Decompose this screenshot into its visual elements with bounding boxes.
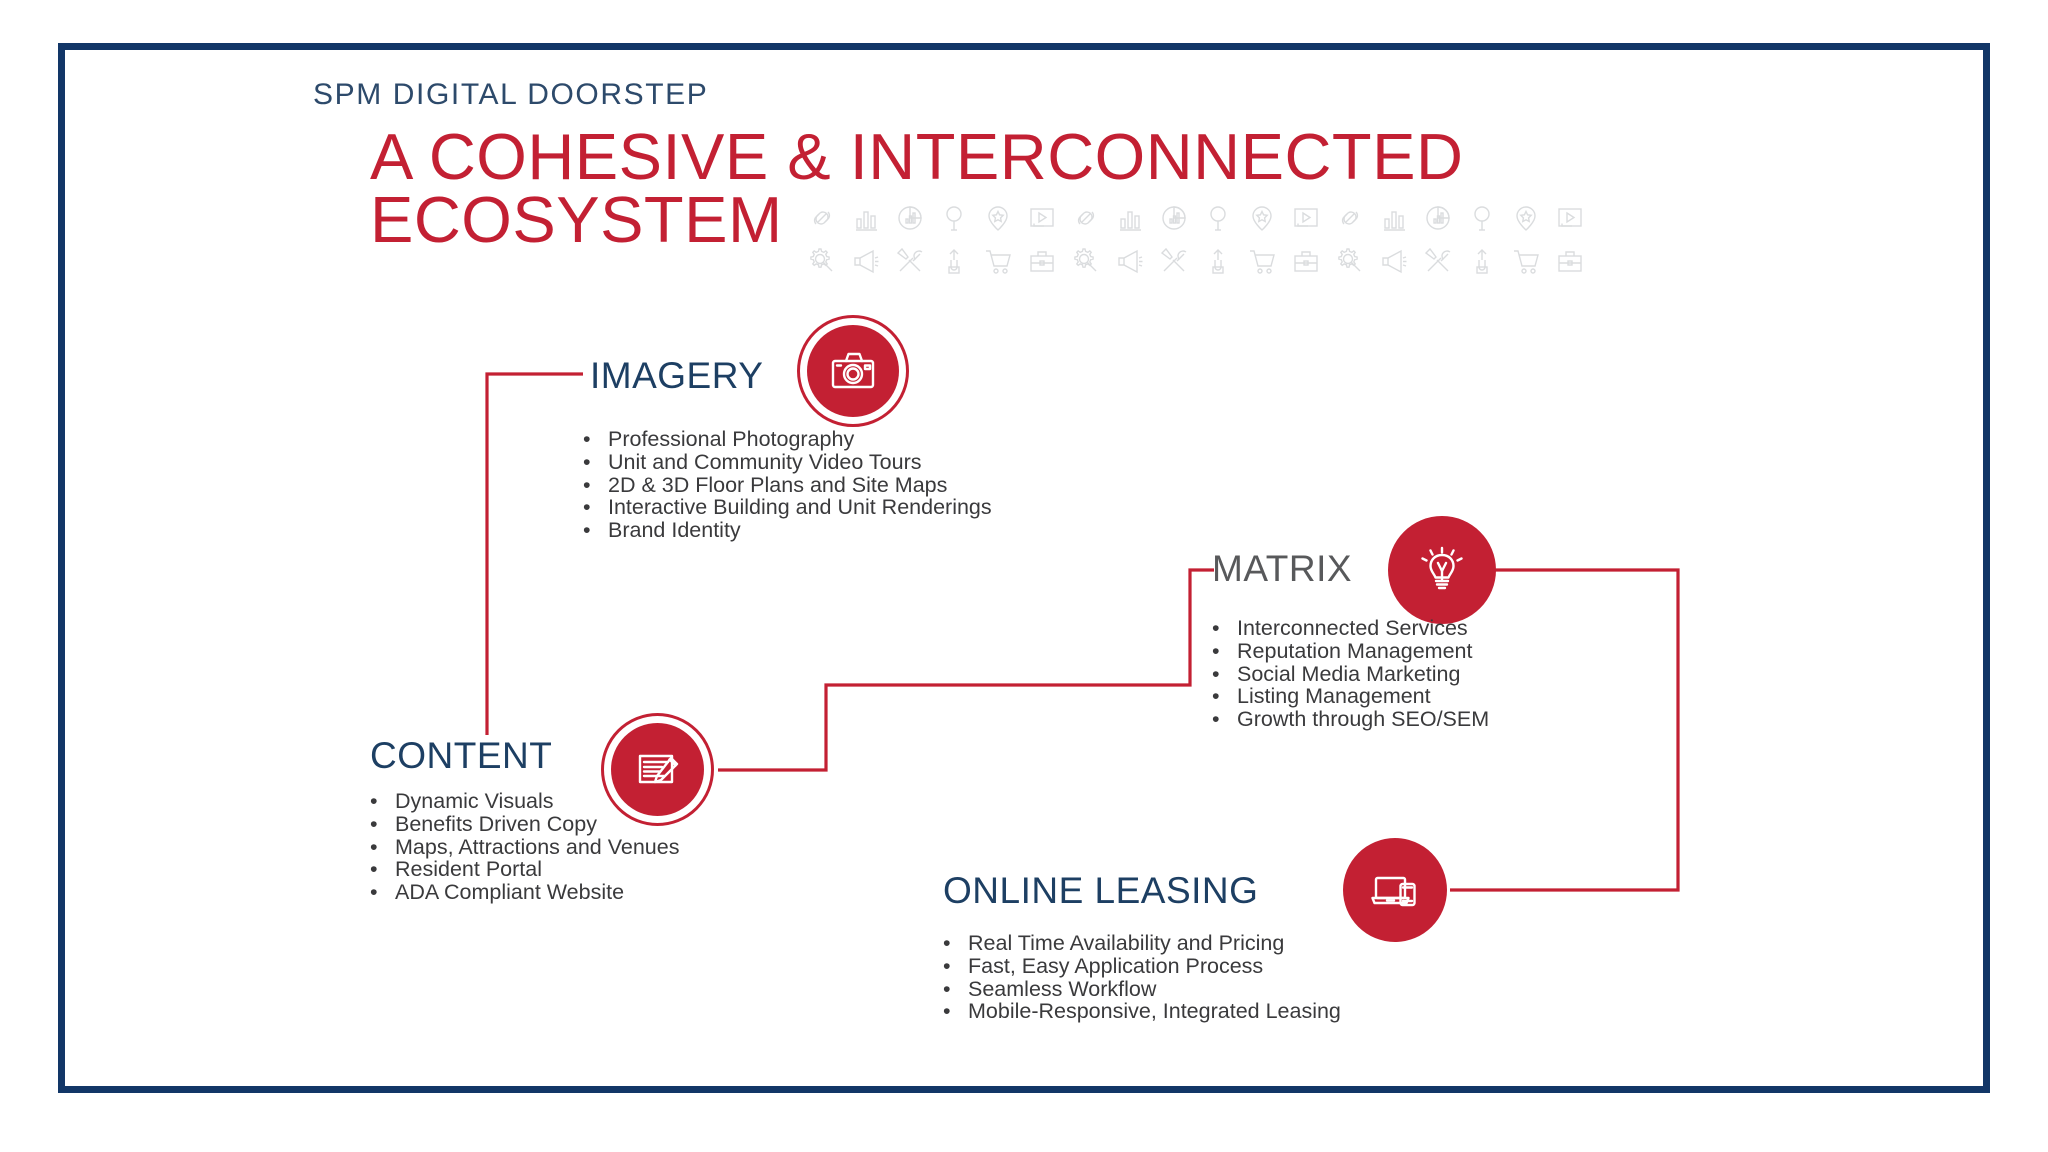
pie-chart-icon bbox=[1416, 196, 1460, 239]
magnifier-icon bbox=[932, 196, 976, 239]
bullet-marker: • bbox=[370, 813, 395, 836]
bullet-text: Real Time Availability and Pricing bbox=[968, 932, 1284, 955]
lightbulb-icon bbox=[1413, 541, 1471, 599]
shopping-cart-icon bbox=[1504, 239, 1548, 282]
briefcase-icon bbox=[1020, 239, 1064, 282]
bullet-item: •Interactive Building and Unit Rendering… bbox=[583, 496, 992, 519]
bullet-text: Interconnected Services bbox=[1237, 617, 1468, 640]
bullet-text: Interactive Building and Unit Renderings bbox=[608, 496, 992, 519]
bullet-marker: • bbox=[943, 978, 968, 1001]
pie-chart-icon bbox=[888, 196, 932, 239]
bullet-marker: • bbox=[370, 858, 395, 881]
map-pin-icon bbox=[1504, 196, 1548, 239]
briefcase-icon bbox=[1548, 239, 1592, 282]
bullet-list-matrix: •Interconnected Services•Reputation Mana… bbox=[1212, 617, 1489, 731]
bullet-marker: • bbox=[1212, 685, 1237, 708]
bullet-item: •Dynamic Visuals bbox=[370, 790, 679, 813]
link-icon bbox=[1064, 196, 1108, 239]
bullet-item: •Unit and Community Video Tours bbox=[583, 451, 992, 474]
bullet-item: •Interconnected Services bbox=[1212, 617, 1489, 640]
bullet-text: 2D & 3D Floor Plans and Site Maps bbox=[608, 474, 947, 497]
tools-icon bbox=[1152, 239, 1196, 282]
camera-icon bbox=[825, 343, 881, 399]
briefcase-icon bbox=[1284, 239, 1328, 282]
bullet-text: ADA Compliant Website bbox=[395, 881, 624, 904]
bullet-text: Brand Identity bbox=[608, 519, 741, 542]
bullet-item: •Brand Identity bbox=[583, 519, 992, 542]
bullet-item: •2D & 3D Floor Plans and Site Maps bbox=[583, 474, 992, 497]
bullet-item: •Professional Photography bbox=[583, 428, 992, 451]
decorative-icon-row-2 bbox=[800, 239, 1665, 282]
bullet-marker: • bbox=[370, 836, 395, 859]
shopping-cart-icon bbox=[976, 239, 1020, 282]
bullet-text: Unit and Community Video Tours bbox=[608, 451, 922, 474]
link-icon bbox=[800, 196, 844, 239]
bullet-marker: • bbox=[583, 496, 608, 519]
bullet-marker: • bbox=[943, 1000, 968, 1023]
bullet-text: Listing Management bbox=[1237, 685, 1431, 708]
bullet-text: Fast, Easy Application Process bbox=[968, 955, 1263, 978]
bullet-marker: • bbox=[1212, 708, 1237, 731]
bullet-marker: • bbox=[943, 955, 968, 978]
node-circle-matrix[interactable] bbox=[1388, 516, 1496, 624]
bullet-item: •Resident Portal bbox=[370, 858, 679, 881]
bullet-text: Growth through SEO/SEM bbox=[1237, 708, 1489, 731]
magnifier-icon bbox=[1460, 196, 1504, 239]
bullet-item: •Seamless Workflow bbox=[943, 978, 1341, 1001]
decorative-icon-pattern bbox=[800, 196, 1665, 282]
bullet-text: Mobile-Responsive, Integrated Leasing bbox=[968, 1000, 1341, 1023]
bullet-text: Resident Portal bbox=[395, 858, 542, 881]
bullet-list-content: •Dynamic Visuals•Benefits Driven Copy•Ma… bbox=[370, 790, 679, 904]
megaphone-icon bbox=[1108, 239, 1152, 282]
bullet-item: •Maps, Attractions and Venues bbox=[370, 836, 679, 859]
bullet-marker: • bbox=[370, 790, 395, 813]
bullet-text: Social Media Marketing bbox=[1237, 663, 1460, 686]
video-player-icon bbox=[1548, 196, 1592, 239]
laptop-phone-icon bbox=[1367, 862, 1423, 918]
pie-chart-icon bbox=[1152, 196, 1196, 239]
bullet-marker: • bbox=[583, 451, 608, 474]
gear-search-icon bbox=[1328, 239, 1372, 282]
bullet-text: Professional Photography bbox=[608, 428, 854, 451]
bullet-text: Reputation Management bbox=[1237, 640, 1472, 663]
bullet-marker: • bbox=[370, 881, 395, 904]
link-icon bbox=[1328, 196, 1372, 239]
slide-canvas: SPM DIGITAL DOORSTEP A COHESIVE & INTERC… bbox=[0, 0, 2048, 1152]
bullet-item: •Listing Management bbox=[1212, 685, 1489, 708]
bullet-marker: • bbox=[1212, 617, 1237, 640]
bullet-item: •Growth through SEO/SEM bbox=[1212, 708, 1489, 731]
decorative-icon-row-1 bbox=[800, 196, 1665, 239]
section-title-online-leasing: ONLINE LEASING bbox=[943, 870, 1258, 912]
shopping-cart-icon bbox=[1240, 239, 1284, 282]
bullet-text: Seamless Workflow bbox=[968, 978, 1156, 1001]
section-title-matrix: MATRIX bbox=[1212, 548, 1352, 590]
section-title-imagery: IMAGERY bbox=[590, 355, 763, 397]
bullet-item: •Real Time Availability and Pricing bbox=[943, 932, 1341, 955]
bullet-marker: • bbox=[1212, 663, 1237, 686]
section-title-content: CONTENT bbox=[370, 735, 552, 777]
megaphone-icon bbox=[844, 239, 888, 282]
gear-search-icon bbox=[800, 239, 844, 282]
bullet-text: Dynamic Visuals bbox=[395, 790, 554, 813]
bullet-item: •Benefits Driven Copy bbox=[370, 813, 679, 836]
bullet-item: •Mobile-Responsive, Integrated Leasing bbox=[943, 1000, 1341, 1023]
node-circle-imagery-fill bbox=[807, 325, 899, 417]
video-player-icon bbox=[1284, 196, 1328, 239]
bullet-item: •ADA Compliant Website bbox=[370, 881, 679, 904]
bar-chart-icon bbox=[844, 196, 888, 239]
map-pin-icon bbox=[1240, 196, 1284, 239]
bullet-list-online-leasing: •Real Time Availability and Pricing•Fast… bbox=[943, 932, 1341, 1023]
tools-icon bbox=[888, 239, 932, 282]
bullet-marker: • bbox=[583, 519, 608, 542]
magnifier-icon bbox=[1196, 196, 1240, 239]
hand-pointer-icon bbox=[1460, 239, 1504, 282]
bullet-item: •Fast, Easy Application Process bbox=[943, 955, 1341, 978]
eyebrow-text: SPM DIGITAL DOORSTEP bbox=[313, 78, 708, 112]
hand-pointer-icon bbox=[932, 239, 976, 282]
bullet-text: Benefits Driven Copy bbox=[395, 813, 597, 836]
bar-chart-icon bbox=[1108, 196, 1152, 239]
bullet-marker: • bbox=[583, 474, 608, 497]
node-circle-online-leasing[interactable] bbox=[1343, 838, 1447, 942]
bullet-item: •Reputation Management bbox=[1212, 640, 1489, 663]
bullet-marker: • bbox=[1212, 640, 1237, 663]
bullet-list-imagery: •Professional Photography•Unit and Commu… bbox=[583, 428, 992, 542]
gear-search-icon bbox=[1064, 239, 1108, 282]
bullet-text: Maps, Attractions and Venues bbox=[395, 836, 679, 859]
bullet-marker: • bbox=[943, 932, 968, 955]
hand-pointer-icon bbox=[1196, 239, 1240, 282]
video-player-icon bbox=[1020, 196, 1064, 239]
bar-chart-icon bbox=[1372, 196, 1416, 239]
tools-icon bbox=[1416, 239, 1460, 282]
megaphone-icon bbox=[1372, 239, 1416, 282]
bullet-item: •Social Media Marketing bbox=[1212, 663, 1489, 686]
map-pin-icon bbox=[976, 196, 1020, 239]
node-circle-imagery[interactable] bbox=[797, 315, 909, 427]
bullet-marker: • bbox=[583, 428, 608, 451]
